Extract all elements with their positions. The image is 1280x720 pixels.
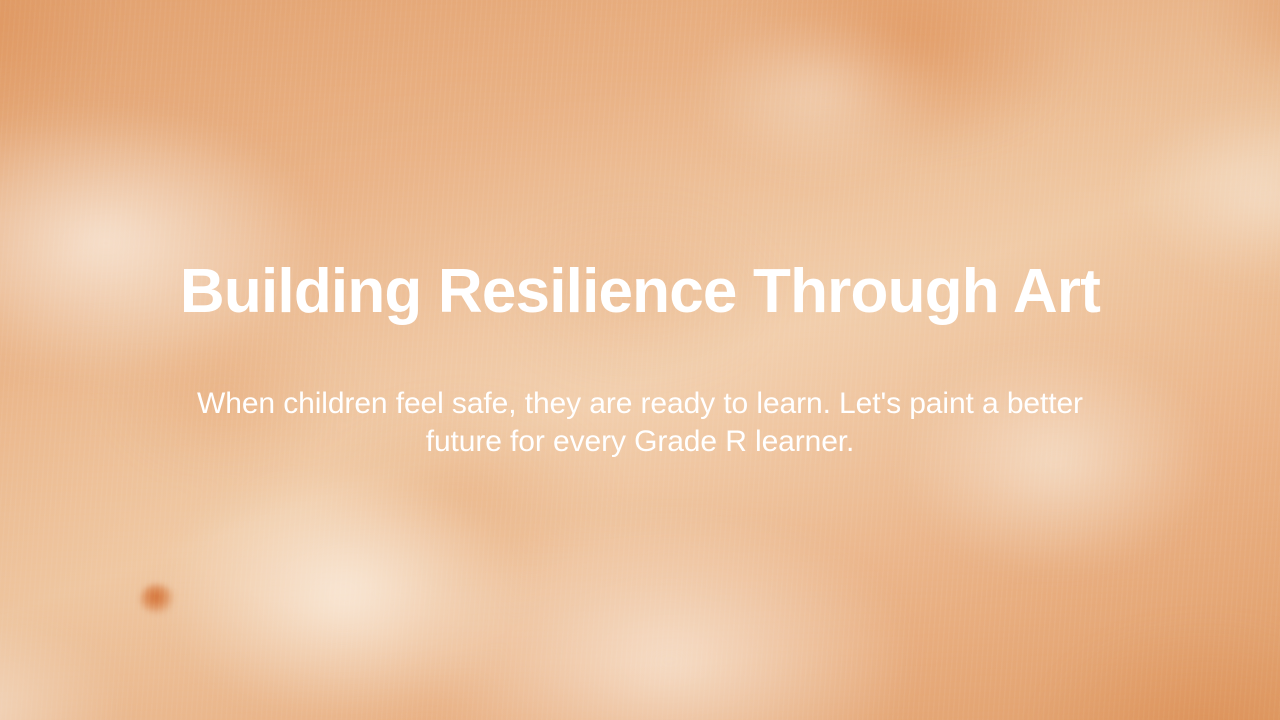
slide-content: Building Resilience Through Art When chi… (0, 0, 1280, 720)
presentation-slide: Building Resilience Through Art When chi… (0, 0, 1280, 720)
slide-subtitle: When children feel safe, they are ready … (190, 385, 1090, 461)
slide-title: Building Resilience Through Art (180, 259, 1100, 326)
